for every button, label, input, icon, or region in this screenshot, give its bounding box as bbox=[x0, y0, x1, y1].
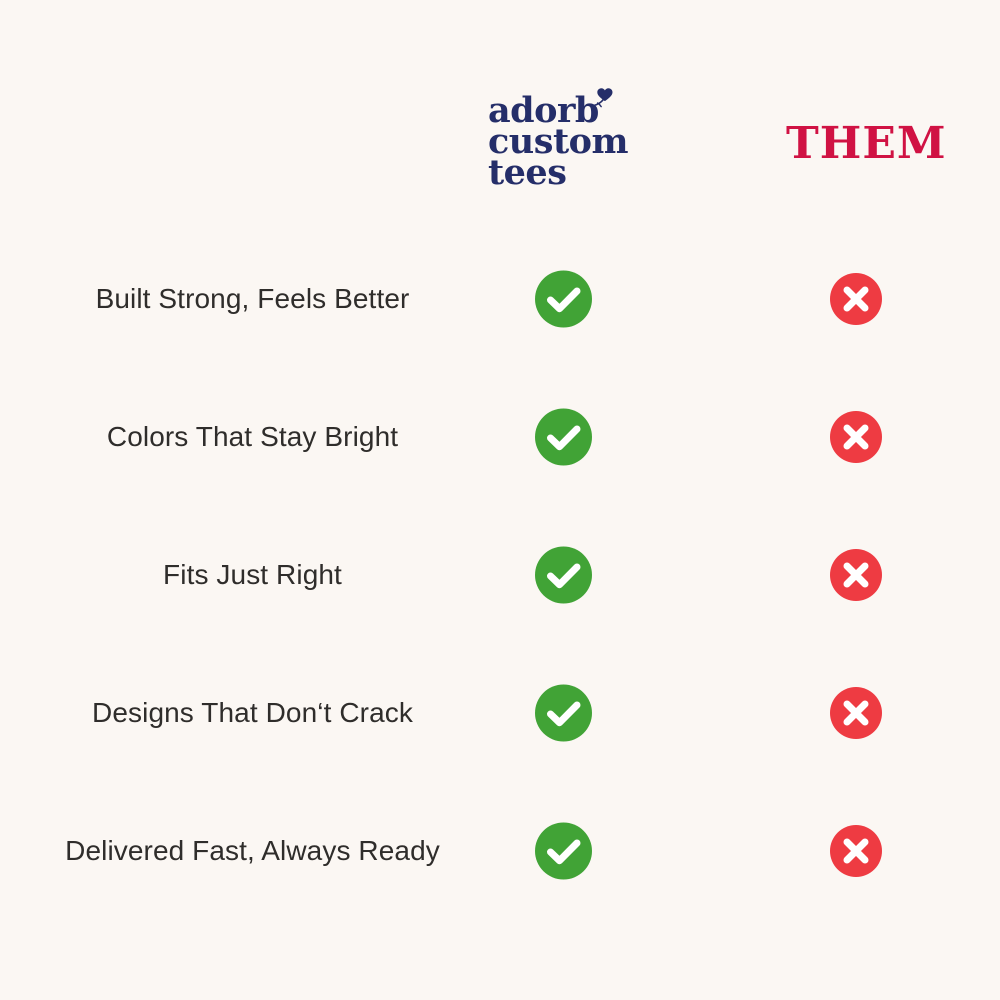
feature-label: Designs That Don‘t Crack bbox=[25, 696, 480, 730]
feature-label: Colors That Stay Bright bbox=[25, 420, 480, 454]
table-body: Built Strong, Feels Better yes bbox=[0, 230, 1000, 930]
table-row: Delivered Fast, Always Ready yes bbox=[0, 782, 1000, 920]
check-circle-icon bbox=[535, 271, 592, 328]
theirs-cell: no bbox=[798, 687, 914, 739]
brand-logo-line-3: tees bbox=[488, 158, 648, 189]
ours-cell: yes bbox=[505, 271, 621, 328]
brand-logo: adorb custom tees bbox=[488, 96, 648, 188]
ours-cell: yes bbox=[505, 409, 621, 466]
feature-label: Delivered Fast, Always Ready bbox=[25, 834, 480, 868]
cross-circle-icon bbox=[830, 273, 882, 325]
check-circle-icon bbox=[535, 685, 592, 742]
theirs-cell: no bbox=[798, 273, 914, 325]
cross-circle-icon bbox=[830, 411, 882, 463]
check-circle-icon bbox=[535, 409, 592, 466]
check-circle-icon bbox=[535, 823, 592, 880]
competitor-logo: THEM bbox=[786, 118, 931, 169]
ours-cell: yes bbox=[505, 547, 621, 604]
cross-circle-icon bbox=[830, 549, 882, 601]
feature-label: Fits Just Right bbox=[25, 558, 480, 592]
brand-logo-word-adorb: adorb bbox=[488, 90, 599, 131]
comparison-table: adorb custom tees THEM Built Strong, Fee… bbox=[0, 0, 1000, 1000]
ours-cell: yes bbox=[505, 685, 621, 742]
theirs-cell: no bbox=[798, 825, 914, 877]
table-header-row: adorb custom tees THEM bbox=[0, 0, 1000, 230]
theirs-cell: no bbox=[798, 411, 914, 463]
ours-cell: yes bbox=[505, 823, 621, 880]
feature-label: Built Strong, Feels Better bbox=[25, 282, 480, 316]
table-row: Built Strong, Feels Better yes bbox=[0, 230, 1000, 368]
table-row: Fits Just Right yes no bbox=[0, 506, 1000, 644]
heart-balloon-icon bbox=[588, 84, 622, 118]
table-row: Designs That Don‘t Crack yes no bbox=[0, 644, 1000, 782]
theirs-cell: no bbox=[798, 549, 914, 601]
brand-logo-line-1: adorb bbox=[488, 96, 648, 127]
cross-circle-icon bbox=[830, 825, 882, 877]
table-row: Colors That Stay Bright yes no bbox=[0, 368, 1000, 506]
check-circle-icon bbox=[535, 547, 592, 604]
cross-circle-icon bbox=[830, 687, 882, 739]
